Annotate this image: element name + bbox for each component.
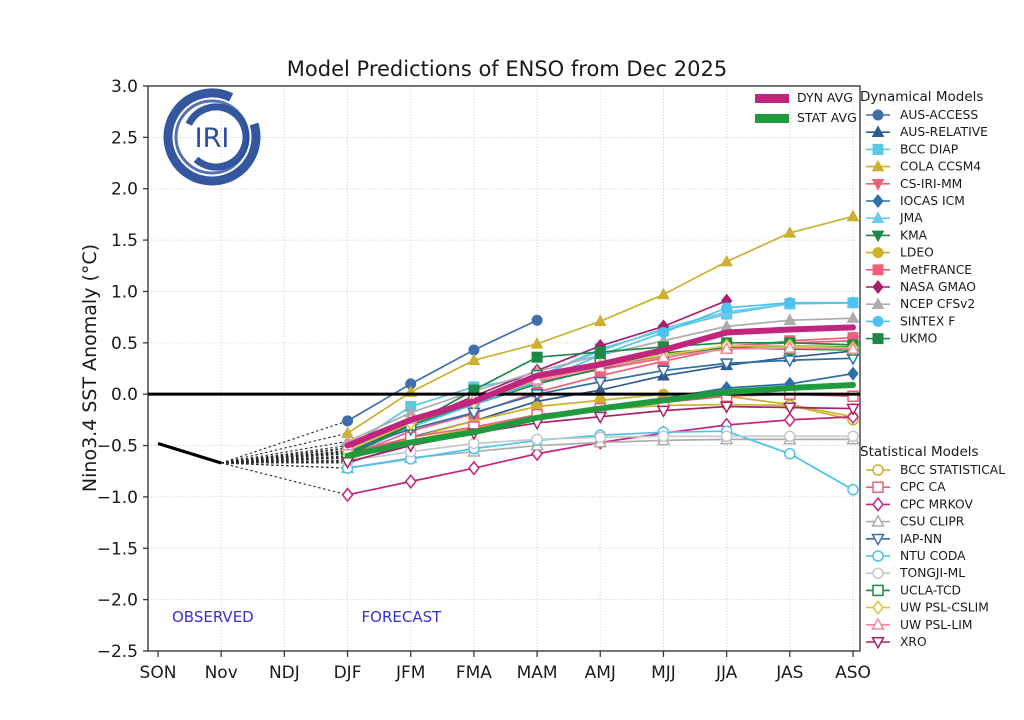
data-point-marker [785, 449, 795, 459]
x-tick-label: ASO [835, 663, 871, 683]
data-point-marker [595, 347, 605, 357]
x-tick-label: JJA [715, 663, 738, 683]
data-point-marker [873, 110, 883, 120]
y-tick-label: −2.5 [97, 642, 138, 662]
x-tick-label: JFM [395, 663, 425, 683]
legend-label: JMA [899, 211, 923, 225]
observed-label: OBSERVED [172, 608, 254, 626]
data-point-marker [848, 298, 858, 308]
x-tick-label: MJJ [651, 663, 676, 683]
legend-label: TONGJI-ML [899, 566, 965, 580]
legend-item-ukmo[interactable]: UKMO [866, 332, 937, 346]
data-point-marker [873, 465, 883, 475]
legend-label: BCC STATISTICAL [900, 463, 1005, 477]
data-point-marker [848, 431, 858, 441]
legend-label: UKMO [900, 332, 937, 346]
legend-label: COLA CCSM4 [900, 160, 981, 174]
legend-label: IAP-NN [900, 532, 942, 546]
data-point-marker [658, 328, 668, 338]
page-title: Model Predictions of ENSO from Dec 2025 [287, 57, 727, 81]
data-point-marker [873, 316, 883, 326]
data-point-marker [658, 431, 668, 441]
data-point-marker [873, 248, 883, 258]
data-point-marker [873, 568, 883, 578]
legend-label: CS-IRI-MM [900, 177, 962, 191]
data-point-marker [873, 334, 883, 344]
data-point-marker [343, 416, 353, 426]
legend-item-tongji-ml[interactable]: TONGJI-ML [866, 566, 965, 580]
legend-label: CPC CA [900, 480, 946, 494]
x-tick-label: FMA [456, 663, 492, 683]
legend-item-bcc-diap[interactable]: BCC DIAP [866, 142, 958, 156]
data-point-marker [785, 431, 795, 441]
y-tick-label: −2.0 [97, 591, 138, 611]
data-point-marker [722, 431, 732, 441]
forecast-label: FORECAST [362, 608, 443, 626]
x-tick-label: NDJ [269, 663, 300, 683]
legend-label: KMA [900, 228, 928, 242]
legend-label: LDEO [900, 246, 934, 260]
figure-background [0, 0, 1024, 720]
legend-label: UW PSL-LIM [900, 618, 972, 632]
y-tick-label: 2.0 [111, 180, 138, 200]
legend-item-cpc-ca[interactable]: CPC CA [866, 480, 946, 494]
legend-label: SINTEX F [900, 314, 955, 328]
legend-label: UW PSL-CSLIM [900, 601, 989, 615]
y-tick-label: 1.0 [111, 282, 138, 302]
x-tick-label: MAM [517, 663, 558, 683]
legend-item-iap-nn[interactable]: IAP-NN [866, 532, 942, 546]
x-tick-label: AMJ [585, 663, 616, 683]
x-tick-label: DJF [334, 663, 362, 683]
legend-label: IOCAS ICM [900, 194, 965, 208]
data-point-marker [873, 551, 883, 561]
data-point-marker [873, 585, 883, 595]
legend-label-dyn-avg: DYN AVG [797, 90, 853, 105]
y-tick-label: 0.5 [111, 334, 138, 354]
x-tick-label: SON [140, 663, 177, 683]
legend-label: NTU CODA [900, 549, 966, 563]
legend-label: NCEP CFSv2 [900, 297, 975, 311]
x-tick-label: Nov [205, 663, 238, 683]
data-point-marker [595, 432, 605, 442]
data-point-marker [532, 352, 542, 362]
data-point-marker [873, 482, 883, 492]
data-point-marker [873, 144, 883, 154]
data-point-marker [722, 303, 732, 313]
x-tick-label: JAS [775, 663, 803, 683]
legend-label: XRO [900, 635, 927, 649]
y-tick-label: −1.5 [97, 539, 138, 559]
dynamical-models-title: Dynamical Models [860, 89, 983, 105]
y-tick-label: −0.5 [97, 437, 138, 457]
y-tick-label: 0.0 [111, 385, 138, 405]
legend-label: BCC DIAP [900, 142, 958, 156]
legend-label: NASA GMAO [900, 280, 976, 294]
iri-logo-text: IRI [195, 123, 230, 154]
legend-label: UCLA-TCD [900, 583, 961, 597]
legend-label-stat-avg: STAT AVG [797, 110, 857, 125]
data-point-marker [532, 315, 542, 325]
y-tick-label: 3.0 [111, 77, 138, 97]
data-point-marker [873, 265, 883, 275]
legend-item-metfrance[interactable]: MetFRANCE [866, 263, 972, 277]
legend-label: AUS-ACCESS [900, 108, 978, 122]
statistical-models-title: Statistical Models [860, 444, 979, 460]
data-point-marker [785, 298, 795, 308]
legend-label: MetFRANCE [900, 263, 972, 277]
legend-item-ucla-tcd[interactable]: UCLA-TCD [866, 583, 961, 597]
data-point-marker [848, 485, 858, 495]
legend-item-sintex-f[interactable]: SINTEX F [866, 314, 955, 328]
legend-label: CPC MRKOV [900, 497, 974, 511]
legend-item-ldeo[interactable]: LDEO [866, 246, 934, 260]
data-point-marker [532, 434, 542, 444]
y-tick-label: −1.0 [97, 488, 138, 508]
legend-label: AUS-RELATIVE [900, 125, 988, 139]
enso-forecast-chart: Model Predictions of ENSO from Dec 2025 … [0, 0, 1024, 720]
legend-label: CSU CLIPR [900, 515, 965, 529]
y-tick-label: 2.5 [111, 128, 138, 148]
y-tick-label: 1.5 [111, 231, 138, 251]
